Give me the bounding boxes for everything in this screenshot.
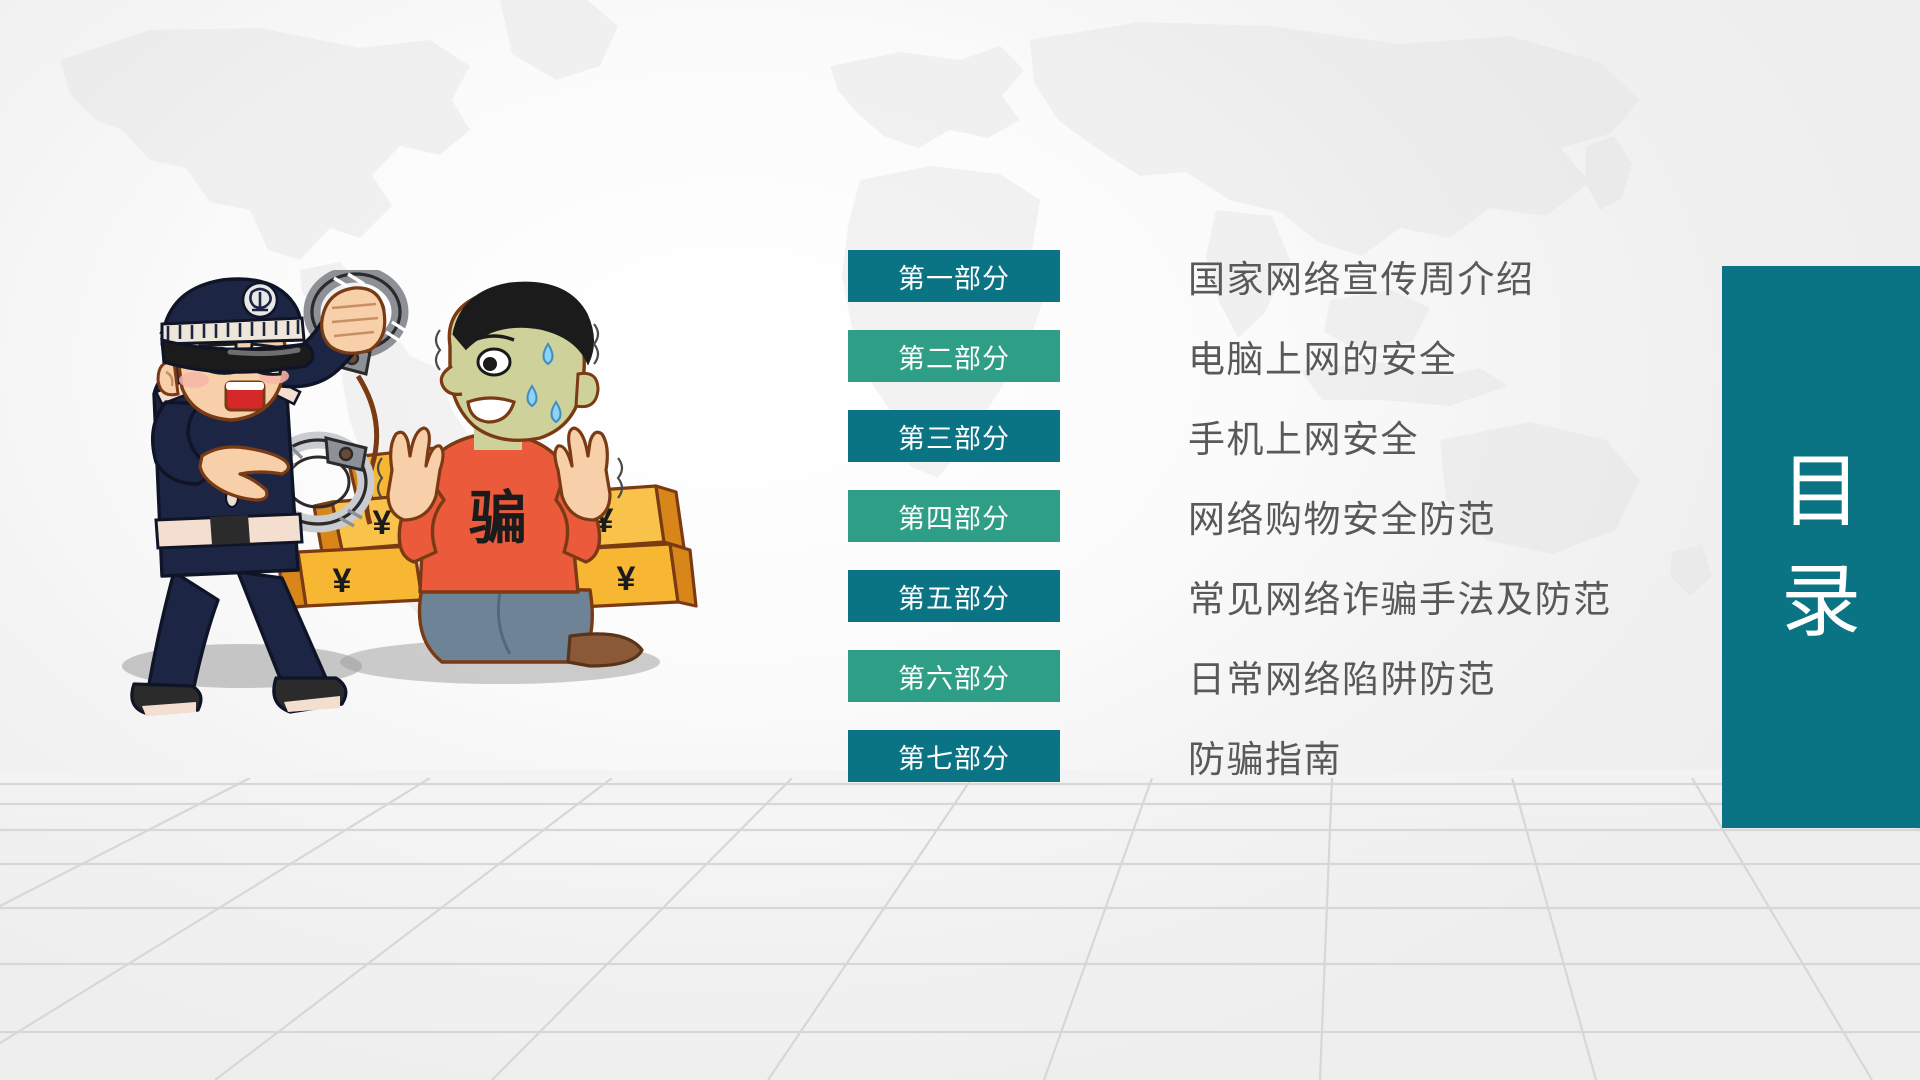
- catalog-char-lu: 录: [1781, 562, 1861, 642]
- toc-badge-6[interactable]: 第六部分: [848, 650, 1060, 702]
- svg-text:¥: ¥: [617, 560, 636, 598]
- catalog-panel: 目 录: [1722, 266, 1920, 828]
- toc-row-4[interactable]: 第四部分 网络购物安全防范: [848, 476, 1668, 556]
- toc-title-5[interactable]: 常见网络诈骗手法及防范: [1188, 569, 1612, 623]
- toc-badge-7[interactable]: 第七部分: [848, 730, 1060, 782]
- toc-title-6[interactable]: 日常网络陷阱防范: [1188, 649, 1496, 703]
- toc-badge-5[interactable]: 第五部分: [848, 570, 1060, 622]
- toc-badge-3[interactable]: 第三部分: [848, 410, 1060, 462]
- toc-row-3[interactable]: 第三部分 手机上网安全: [848, 396, 1668, 476]
- catalog-char-mu: 目: [1781, 452, 1861, 532]
- toc-row-5[interactable]: 第五部分 常见网络诈骗手法及防范: [848, 556, 1668, 636]
- svg-text:¥: ¥: [333, 562, 352, 600]
- toc-badge-2[interactable]: 第二部分: [848, 330, 1060, 382]
- fraudster-figure: 骗: [378, 283, 642, 666]
- toc-row-2[interactable]: 第二部分 电脑上网的安全: [848, 316, 1668, 396]
- toc-title-2[interactable]: 电脑上网的安全: [1188, 329, 1458, 383]
- toc-row-1[interactable]: 第一部分 国家网络宣传周介绍: [848, 236, 1668, 316]
- illustration-policeman-and-fraudster: ¥ ¥ ¥ ¥ ¥ 骗: [70, 270, 730, 830]
- toc-badge-4[interactable]: 第四部分: [848, 490, 1060, 542]
- toc-row-6[interactable]: 第六部分 日常网络陷阱防范: [848, 636, 1668, 716]
- slide-canvas: ¥ ¥ ¥ ¥ ¥ 骗: [0, 0, 1920, 1080]
- fraudster-shirt-character: 骗: [469, 486, 527, 551]
- svg-text:¥: ¥: [373, 504, 392, 542]
- toc-title-3[interactable]: 手机上网安全: [1188, 409, 1419, 463]
- toc-title-7[interactable]: 防骗指南: [1188, 729, 1342, 783]
- toc-title-4[interactable]: 网络购物安全防范: [1188, 489, 1496, 543]
- toc-row-7[interactable]: 第七部分 防骗指南: [848, 716, 1668, 796]
- toc-badge-1[interactable]: 第一部分: [848, 250, 1060, 302]
- table-of-contents-list: 第一部分 国家网络宣传周介绍 第二部分 电脑上网的安全 第三部分 手机上网安全 …: [848, 236, 1668, 796]
- toc-title-1[interactable]: 国家网络宣传周介绍: [1188, 249, 1535, 303]
